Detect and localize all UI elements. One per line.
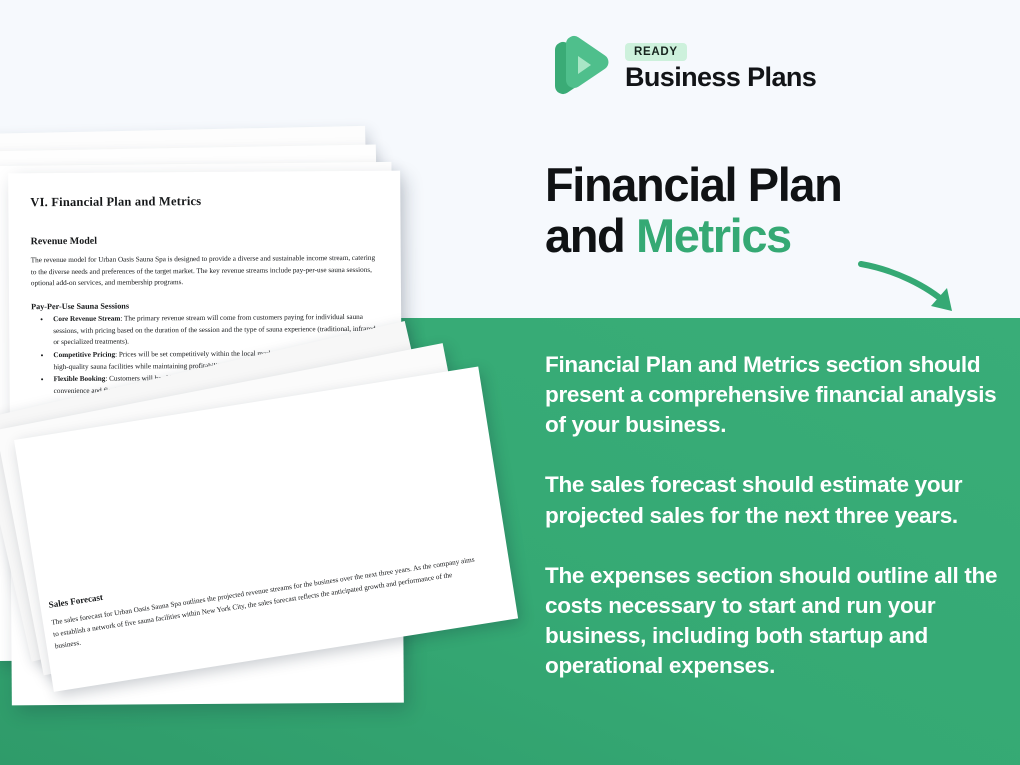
headline-accent: Metrics <box>636 209 791 262</box>
bullet-term: Flexible Booking <box>54 375 106 383</box>
bullet-term: Core Revenue Stream <box>53 315 120 323</box>
document-title: VI. Financial Plan and Metrics <box>30 193 380 210</box>
revenue-model-intro: The revenue model for Urban Oasis Sauna … <box>31 253 381 290</box>
right-content-column: READY Business Plans Financial Plan and … <box>545 0 1020 765</box>
revenue-model-heading: Revenue Model <box>31 234 381 247</box>
headline-line-1: Financial Plan <box>545 160 1020 211</box>
panel-paragraph-3: The expenses section should outline all … <box>545 561 1020 682</box>
headline-prefix: and <box>545 209 636 262</box>
page-title: Financial Plan and Metrics <box>545 160 1020 262</box>
pay-per-use-heading: Pay-Per-Use Sauna Sessions <box>31 300 381 311</box>
ready-badge: READY <box>625 43 687 61</box>
headline-line-2: and Metrics <box>545 211 1020 262</box>
panel-paragraph-2: The sales forecast should estimate your … <box>545 470 1020 530</box>
green-description-panel: Financial Plan and Metrics section shoul… <box>545 350 1020 681</box>
brand-logo[interactable]: READY Business Plans <box>545 0 1020 100</box>
panel-paragraph-1: Financial Plan and Metrics section shoul… <box>545 350 1020 440</box>
curved-arrow-down-right-icon <box>855 258 985 328</box>
brand-name: Business Plans <box>625 63 816 91</box>
play-triangle-logo-icon <box>545 34 609 100</box>
bullet-term: Competitive Pricing <box>53 351 115 359</box>
